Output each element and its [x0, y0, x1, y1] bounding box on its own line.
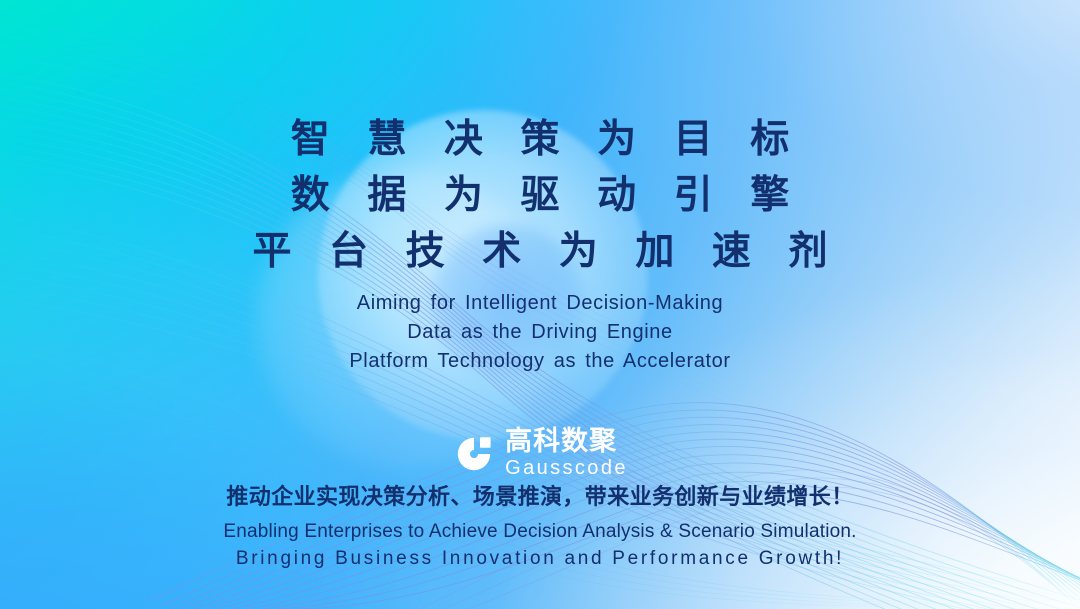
tagline-en-line1: Enabling Enterprises to Achieve Decision…	[0, 518, 1080, 545]
subheadline-line-3: Platform Technology as the Accelerator	[0, 347, 1080, 376]
headline-line-2: 数 据 为 驱 动 引 擎	[0, 168, 1080, 224]
banner-content: 智 慧 决 策 为 目 标 数 据 为 驱 动 引 擎 平 台 技 术 为 加 …	[0, 0, 1080, 609]
headline-block: 智 慧 决 策 为 目 标 数 据 为 驱 动 引 擎 平 台 技 术 为 加 …	[0, 112, 1080, 280]
brand-logo: 高科数聚 Gausscode	[0, 428, 1080, 479]
tagline-block: 推动企业实现决策分析、场景推演，带来业务创新与业绩增长！ Enabling En…	[0, 483, 1080, 572]
subheadline-line-2: Data as the Driving Engine	[0, 318, 1080, 347]
logo-text-block: 高科数聚 Gausscode	[505, 428, 628, 479]
logo-name-cn: 高科数聚	[505, 428, 628, 456]
gausscode-logo-mark	[452, 432, 496, 476]
subheadline-line-1: Aiming for Intelligent Decision-Making	[0, 289, 1080, 318]
subheadline-block: Aiming for Intelligent Decision-Making D…	[0, 289, 1080, 376]
logo-name-en: Gausscode	[505, 457, 628, 479]
tagline-cn: 推动企业实现决策分析、场景推演，带来业务创新与业绩增长！	[0, 483, 1080, 513]
headline-line-1: 智 慧 决 策 为 目 标	[0, 112, 1080, 168]
headline-line-3: 平 台 技 术 为 加 速 剂	[0, 224, 1080, 280]
tagline-en-line2: Bringing Business Innovation and Perform…	[0, 545, 1080, 572]
promo-banner: 智 慧 决 策 为 目 标 数 据 为 驱 动 引 擎 平 台 技 术 为 加 …	[0, 0, 1080, 609]
